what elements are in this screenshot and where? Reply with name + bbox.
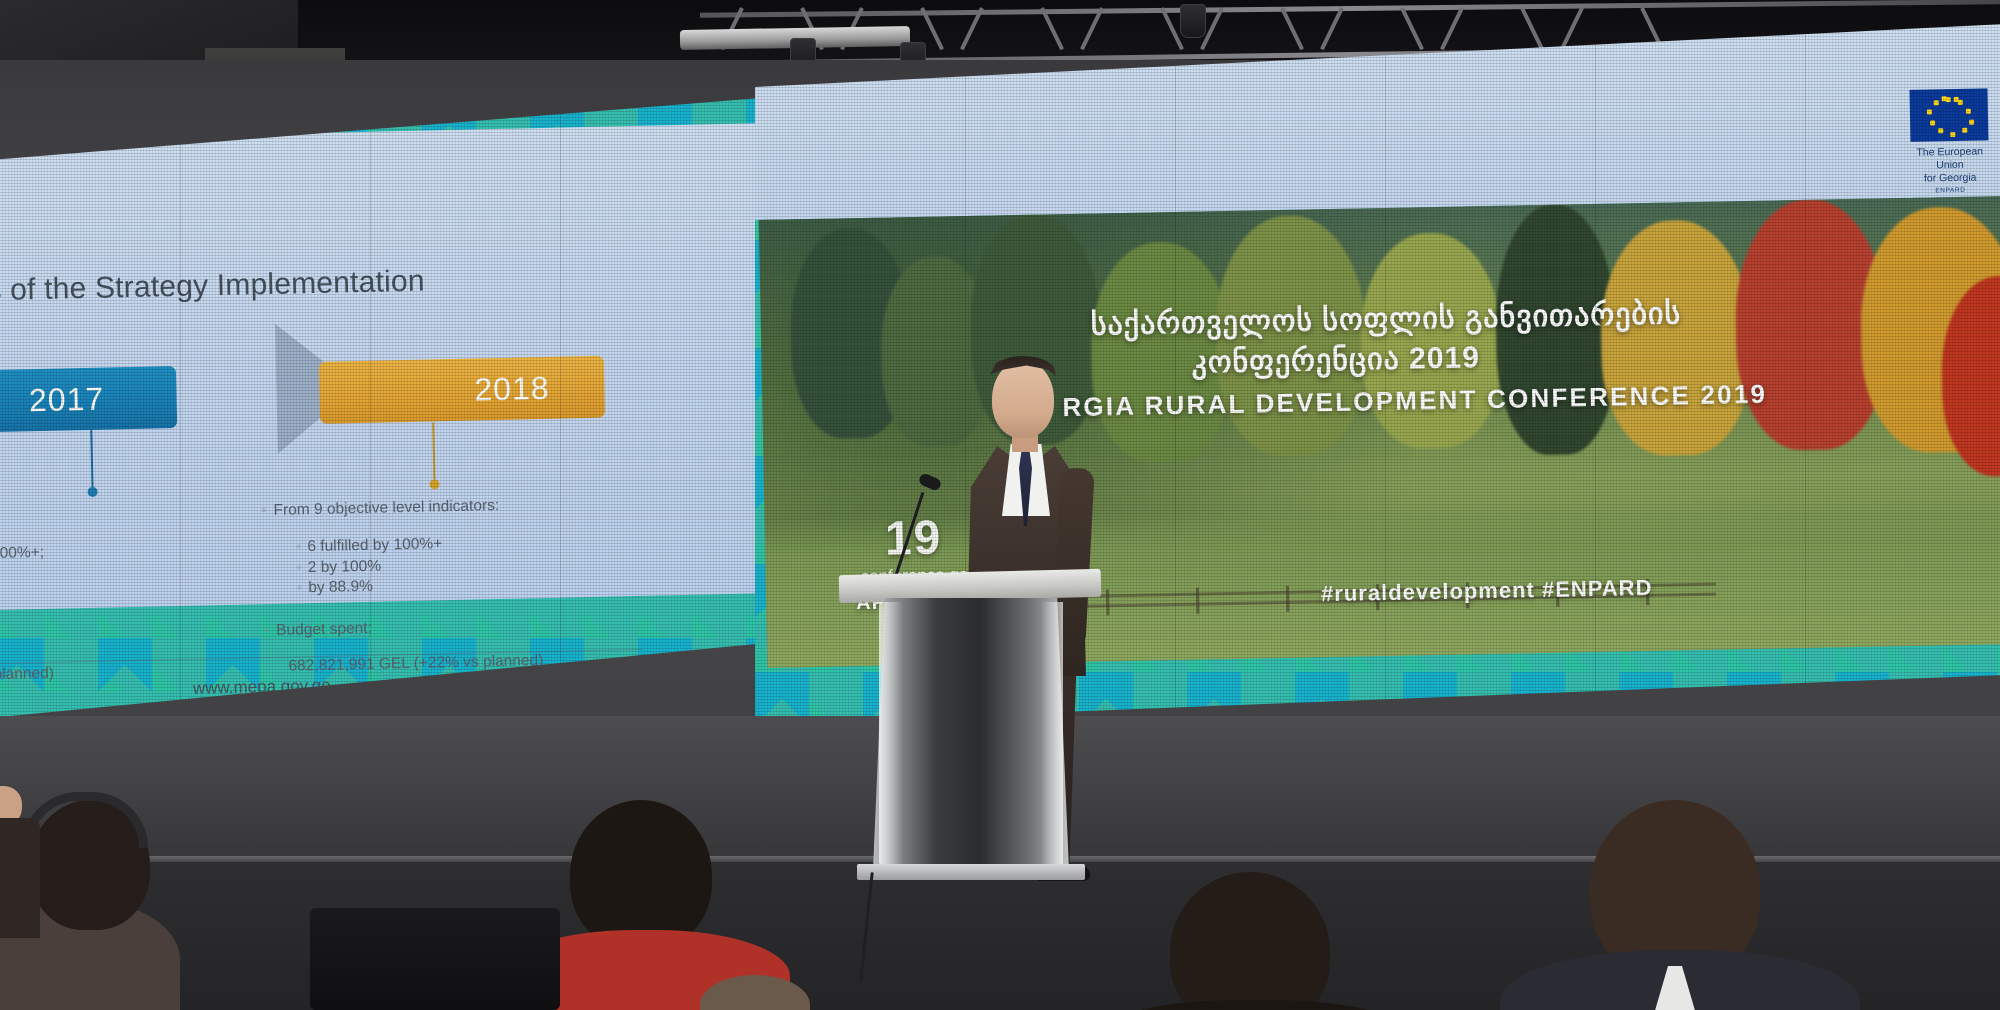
conference-title-georgian-line2: კონფერენცია 2019 xyxy=(1191,340,1480,381)
column-2017-head: level indicators: xyxy=(0,502,199,532)
eu-logo-caption: The European Union for Georgia ENPARD xyxy=(1908,145,1993,196)
logo-row: The European Union for Georgia ENPARD xyxy=(1906,83,2000,196)
audience-head xyxy=(570,800,712,950)
year-badge-2018: 2018 xyxy=(319,356,605,424)
speaker-head xyxy=(992,360,1054,438)
slide-left-content: ults of the Strategy Implementation 2017… xyxy=(0,98,760,718)
column-2017-budget-value: GEL (+38.3% vs planned) xyxy=(0,659,203,689)
year-badge-2017-label: 2017 xyxy=(29,380,105,419)
led-screen-left: ults of the Strategy Implementation 2017… xyxy=(0,98,760,718)
year-badge-2017: 2017 xyxy=(0,366,177,435)
eu-flag-icon xyxy=(1909,88,1988,141)
eu-caption-line2: for Georgia xyxy=(1908,172,1992,187)
eu-caption-enpard: ENPARD xyxy=(1908,187,1992,197)
column-2017-lines: d by 100% or 100%+; d partially; lled. xyxy=(0,540,201,608)
spotlight-icon xyxy=(1180,4,1206,38)
eu-caption-line1: The European Union xyxy=(1908,145,1992,173)
column-2018-budget-head: Budget spent: xyxy=(263,612,623,642)
podium-base xyxy=(857,864,1085,880)
year-badge-2018-label: 2018 xyxy=(474,369,550,408)
column-2017-line: lled. xyxy=(0,581,201,608)
eu-logo: The European Union for Georgia ENPARD xyxy=(1906,88,1992,196)
foreground-equipment xyxy=(310,908,560,1010)
podium xyxy=(845,572,1105,922)
column-2018-lines: 6 fulfilled by 100%+ 2 by 100% by 88.9% xyxy=(296,531,623,599)
conference-hall-scene: ults of the Strategy Implementation 2017… xyxy=(0,0,2000,1010)
